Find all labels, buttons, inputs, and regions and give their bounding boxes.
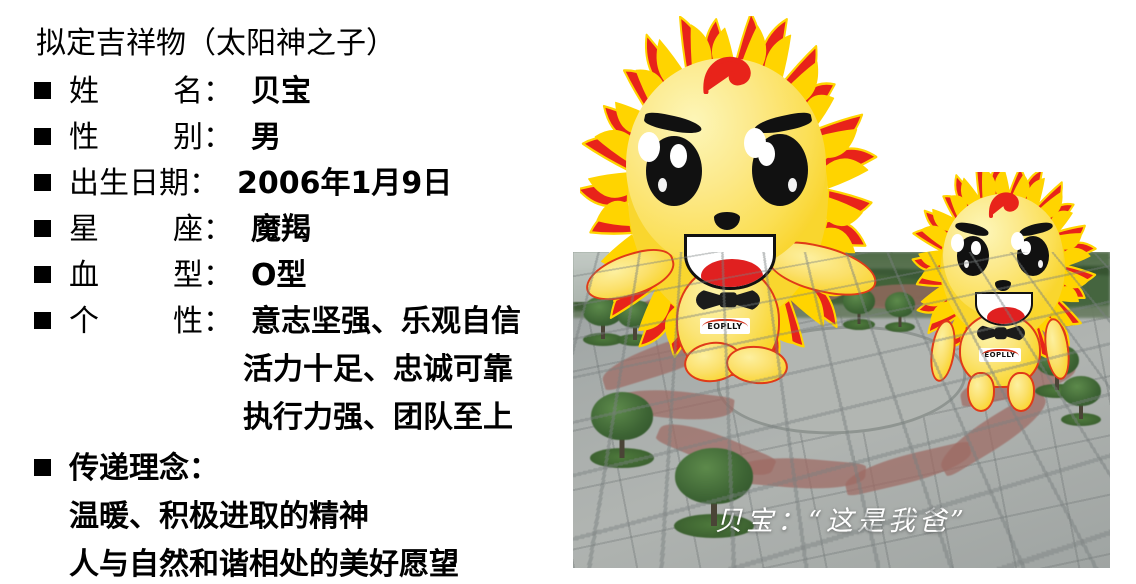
page-title: 拟定吉祥物（太阳神之子）: [36, 18, 396, 62]
row-name-label-a: 姓: [69, 66, 99, 110]
row-birthdate-label-a: 出生日期: [69, 158, 189, 202]
mascot-small-leg-left: [967, 372, 995, 412]
slide-root: 拟定吉祥物（太阳神之子） 姓 名 ： 贝宝 性 别 ： 男 出生日期 ：: [0, 0, 1136, 584]
plaza-tree: [587, 392, 657, 468]
bullet-square-icon: [34, 174, 51, 191]
mascot-small: EOPLLY: [903, 172, 1115, 412]
bullet-square-icon: [34, 266, 51, 283]
mascot-small-leg-right: [1007, 372, 1035, 412]
row-birthdate: 出生日期 ： 2006年1月9日: [34, 158, 452, 202]
row-bloodtype-value: O型: [251, 250, 307, 294]
idea-line-1: 温暖、积极进取的精神: [69, 491, 369, 535]
bullet-square-icon: [34, 312, 51, 329]
row-personality-label-a: 个: [69, 296, 99, 340]
row-bloodtype-label-b: 型: [173, 250, 203, 294]
row-personality: 个 性 ： 意志坚强、乐观自信: [34, 296, 521, 340]
row-gender-colon: ：: [203, 112, 233, 156]
row-zodiac-colon: ：: [203, 204, 233, 248]
bullet-square-icon: [34, 220, 51, 237]
mascot-small-bowtie: [977, 324, 1025, 342]
row-personality-colon: ：: [203, 296, 233, 340]
row-zodiac-label-a: 星: [69, 204, 99, 248]
row-name-label-b: 名: [173, 66, 203, 110]
idea-heading: 传递理念：: [69, 443, 219, 487]
row-zodiac-value: 魔羯: [251, 204, 311, 248]
bullet-square-icon: [34, 459, 51, 476]
row-name-colon: ：: [203, 66, 233, 110]
mascot-large-eye-right-sparkle: [744, 128, 766, 158]
personality-line-3: 执行力强、团队至上: [243, 392, 513, 436]
row-bloodtype-label-a: 血: [69, 250, 99, 294]
text-column: 拟定吉祥物（太阳神之子） 姓 名 ： 贝宝 性 别 ： 男 出生日期 ：: [0, 0, 575, 584]
mascot-large-eye-left-sparkle: [638, 132, 660, 162]
mascot-small-eye-right-sparkle: [1011, 232, 1024, 250]
mascot-large-logo-badge: EOPLLY: [700, 318, 750, 334]
badge-swoosh-icon: [702, 319, 748, 328]
personality-line-2: 活力十足、忠诚可靠: [243, 344, 513, 388]
row-gender-label-b: 别: [173, 112, 203, 156]
row-birthdate-value: 2006年1月9日: [237, 158, 452, 202]
mascot-large-bowtie: [696, 288, 760, 312]
row-bloodtype-colon: ：: [203, 250, 233, 294]
idea-heading-row: 传递理念：: [34, 443, 219, 487]
mascot-small-logo-badge: EOPLLY: [979, 348, 1021, 362]
row-personality-label-b: 性: [173, 296, 203, 340]
row-gender: 性 别 ： 男: [34, 112, 281, 156]
row-bloodtype: 血 型 ： O型: [34, 250, 307, 294]
idea-line-2: 人与自然和谐相处的美好愿望: [69, 539, 459, 583]
row-gender-label-a: 性: [69, 112, 99, 156]
photo-caption: 贝宝：“这是我爸”: [573, 499, 1110, 538]
bullet-square-icon: [34, 82, 51, 99]
row-birthdate-colon: ：: [189, 158, 219, 202]
mascot-large-cowlick-icon: [698, 54, 764, 94]
row-name-value: 贝宝: [251, 66, 311, 110]
mascot-large-tongue: [701, 259, 763, 290]
mascot-small-cowlick-icon: [985, 190, 1027, 218]
badge-swoosh-icon: [981, 349, 1020, 357]
row-gender-value: 男: [251, 112, 281, 156]
row-personality-value: 意志坚强、乐观自信: [251, 296, 521, 340]
row-name: 姓 名 ： 贝宝: [34, 66, 311, 110]
row-zodiac: 星 座 ： 魔羯: [34, 204, 311, 248]
mascot-large: EOPLLY: [580, 16, 880, 376]
bullet-square-icon: [34, 128, 51, 145]
mascot-small-eye-left-sparkle: [951, 234, 964, 252]
row-zodiac-label-b: 座: [173, 204, 203, 248]
